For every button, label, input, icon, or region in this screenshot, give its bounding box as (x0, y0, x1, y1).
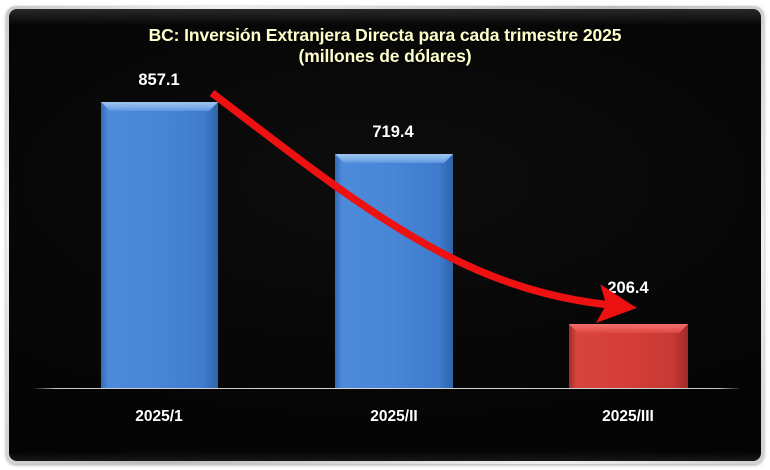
bar-2025-q3[interactable] (569, 324, 688, 388)
panel-bottom-sheen (9, 451, 761, 461)
chart-title-line-1: BC: Inversión Extranjera Directa para ca… (149, 25, 622, 45)
value-label-2025-q3: 206.4 (567, 279, 689, 298)
chart-frame: BC: Inversión Extranjera Directa para ca… (0, 0, 770, 470)
value-label-2025-q1: 857.1 (99, 71, 219, 90)
panel-top-sheen (9, 9, 761, 25)
bar-top-bevel (335, 154, 453, 163)
bar-top-bevel (101, 102, 218, 111)
chart-title: BC: Inversión Extranjera Directa para ca… (9, 25, 761, 67)
category-label-2025-q1: 2025/1 (97, 408, 221, 426)
x-axis-line (35, 388, 739, 389)
bar-top-bevel (569, 324, 688, 333)
category-label-2025-q3: 2025/III (565, 408, 691, 426)
value-label-2025-q2: 719.4 (333, 123, 453, 142)
chart-title-line-2: (millones de dólares) (9, 46, 761, 67)
category-label-2025-q2: 2025/II (331, 408, 457, 426)
chart-plot-area: BC: Inversión Extranjera Directa para ca… (9, 9, 761, 461)
bar-2025-q1[interactable] (101, 102, 218, 388)
bar-2025-q2[interactable] (335, 154, 453, 388)
